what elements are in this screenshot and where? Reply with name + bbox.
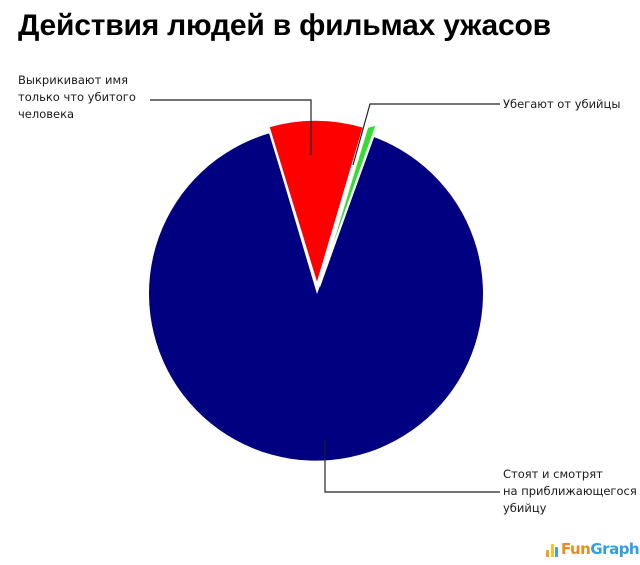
callout-label-running-away: Убегают от убийцы xyxy=(503,96,620,113)
bar-chart-icon xyxy=(546,543,558,557)
callout-label-standing-watching: Стоят и смотрят на приближающегося убийц… xyxy=(503,466,637,517)
logo-word-fun: Fun xyxy=(561,540,590,558)
chart-canvas: Действия людей в фильмах ужасов Выкрикив… xyxy=(0,0,640,565)
bar-chart-icon-bar-1 xyxy=(546,550,549,557)
callout-label-screaming-name: Выкрикивают имя только что убитого челов… xyxy=(18,72,136,123)
bar-chart-icon-bar-3 xyxy=(555,547,558,557)
logo-word-graph: Graph xyxy=(590,540,639,558)
bar-chart-icon-bar-2 xyxy=(551,544,554,557)
fungraph-logo[interactable]: FunGraph xyxy=(546,537,639,557)
logo-wordmark: FunGraph xyxy=(561,542,639,557)
